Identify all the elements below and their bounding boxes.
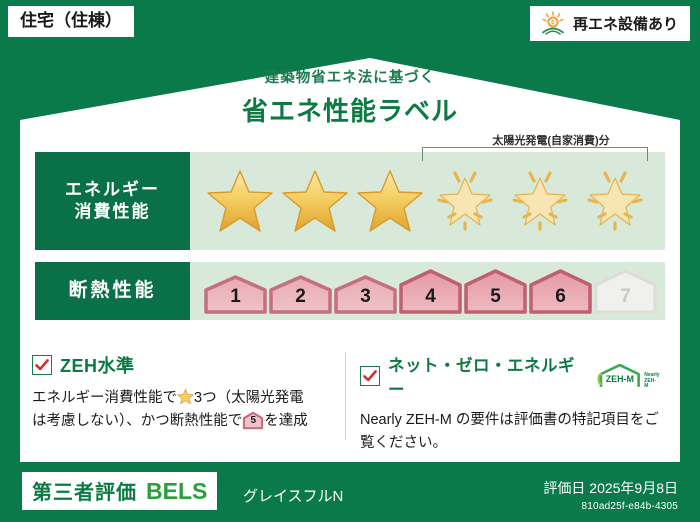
solar-contribution-note: 太陽光発電(自家消費)分 — [435, 132, 667, 148]
insulation-level-value: 6 — [529, 286, 592, 308]
bels-jp-label: 第三者評価 — [32, 476, 137, 505]
insulation-level-value: 5 — [464, 286, 527, 308]
star-icon — [279, 165, 351, 237]
insulation-level-badge: 4 — [399, 268, 462, 314]
evaluation-date: 評価日 2025年9月8日 — [543, 478, 678, 498]
check-icon — [360, 366, 380, 386]
insulation-level-badge: 6 — [529, 268, 592, 314]
star-icon — [354, 165, 426, 237]
insulation-performance-row: 断熱性能 1 2 — [35, 262, 665, 320]
category-badge-label: 住宅（住棟） — [20, 11, 122, 30]
energy-rating-area: 太陽光発電(自家消費)分 — [190, 152, 665, 250]
insulation-label: 断熱性能 — [68, 279, 156, 303]
insulation-level-value: 4 — [399, 286, 462, 308]
insulation-level-badge: 3 — [334, 274, 397, 314]
evaluation-info: 評価日 2025年9月8日 810ad25f-e84b-4305 — [543, 478, 678, 512]
building-name: グレイスフルN — [243, 485, 343, 506]
inline-badge-value: 5 — [242, 413, 264, 429]
insulation-level-value: 1 — [204, 286, 267, 308]
energy-performance-label-box: エネルギー 消費性能 — [35, 152, 190, 250]
check-icon — [32, 355, 52, 375]
insulation-level-value: 3 — [334, 286, 397, 308]
insulation-level-badge: 5 — [464, 268, 527, 314]
zeh-title: ZEH水準 — [60, 352, 135, 378]
title-subtitle: 建築物省エネ法に基づく — [0, 66, 700, 87]
star-icon — [204, 165, 276, 237]
label-footer: 第三者評価 BELS グレイスフルN 評価日 2025年9月8日 810ad25… — [0, 462, 700, 522]
solar-sun-icon — [540, 11, 566, 35]
energy-performance-label: 住宅（住棟） 再エネ設備あり 建築物省エネ法に基づく 省エネ性能ラベル — [0, 0, 700, 522]
title-main: 省エネ性能ラベル — [0, 91, 700, 128]
zeh-description: エネルギー消費性能で3つ（太陽光発電は考慮しない）、かつ断熱性能で5を達成 — [32, 387, 332, 434]
evaluation-id: 810ad25f-e84b-4305 — [543, 501, 678, 512]
insulation-level-badge-empty: 7 — [594, 268, 657, 314]
insulation-level-badge: 2 — [269, 274, 332, 314]
renewable-equipment-badge: 再エネ設備あり — [530, 6, 690, 41]
net-zero-heading: ネット・ゼロ・エネルギー ZEH-M Nearly ZEH-M — [360, 352, 660, 400]
insulation-level-value: 2 — [269, 286, 332, 308]
net-zero-title: ネット・ゼロ・エネルギー — [388, 352, 584, 400]
label-title-block: 建築物省エネ法に基づく 省エネ性能ラベル — [0, 66, 700, 128]
energy-label-line2: 消費性能 — [75, 201, 151, 223]
star-icon-inline — [177, 388, 194, 405]
star-icon-solar — [579, 165, 651, 237]
svg-text:ZEH-M: ZEH-M — [605, 374, 633, 384]
zeh-star-count-text: 3つ（太陽光発電 — [194, 390, 304, 406]
bels-certification-badge: 第三者評価 BELS — [22, 472, 217, 510]
star-rating — [190, 152, 665, 250]
zeh-text-part3: を達成 — [264, 413, 308, 429]
zeh-heading: ZEH水準 — [32, 352, 332, 378]
net-zero-description: Nearly ZEH-M の要件は評価書の特記項目をご覧ください。 — [360, 409, 660, 456]
column-divider — [345, 352, 346, 440]
insulation-level-badge: 1 — [204, 274, 267, 314]
insulation-performance-label-box: 断熱性能 — [35, 262, 190, 320]
renewable-badge-label: 再エネ設備あり — [573, 13, 678, 34]
insulation-badge-inline: 5 — [242, 411, 264, 430]
bels-en-label: BELS — [146, 478, 207, 505]
zeh-m-sub-line2: ZEH-M — [644, 378, 656, 389]
energy-performance-row: エネルギー 消費性能 太陽光発電(自家消費)分 — [35, 152, 665, 250]
insulation-rating-area: 1 2 3 — [190, 262, 665, 320]
zeh-m-logo-subtext: Nearly ZEH-M — [644, 373, 660, 389]
net-zero-energy-section: ネット・ゼロ・エネルギー ZEH-M Nearly ZEH-M Nearly Z… — [360, 352, 660, 456]
zeh-text-part2: は考慮しない）、かつ断熱性能で — [32, 413, 242, 429]
star-icon-solar — [504, 165, 576, 237]
star-icon-solar — [429, 165, 501, 237]
insulation-level-scale: 1 2 3 — [190, 262, 665, 320]
insulation-level-value: 7 — [594, 286, 657, 308]
energy-label-line1: エネルギー — [65, 179, 160, 201]
category-badge: 住宅（住棟） — [8, 6, 134, 37]
zeh-text-part1: エネルギー消費性能で — [32, 390, 177, 406]
zeh-m-logo: ZEH-M Nearly ZEH-M — [597, 363, 660, 389]
zeh-standard-section: ZEH水準 エネルギー消費性能で3つ（太陽光発電は考慮しない）、かつ断熱性能で5… — [32, 352, 332, 434]
